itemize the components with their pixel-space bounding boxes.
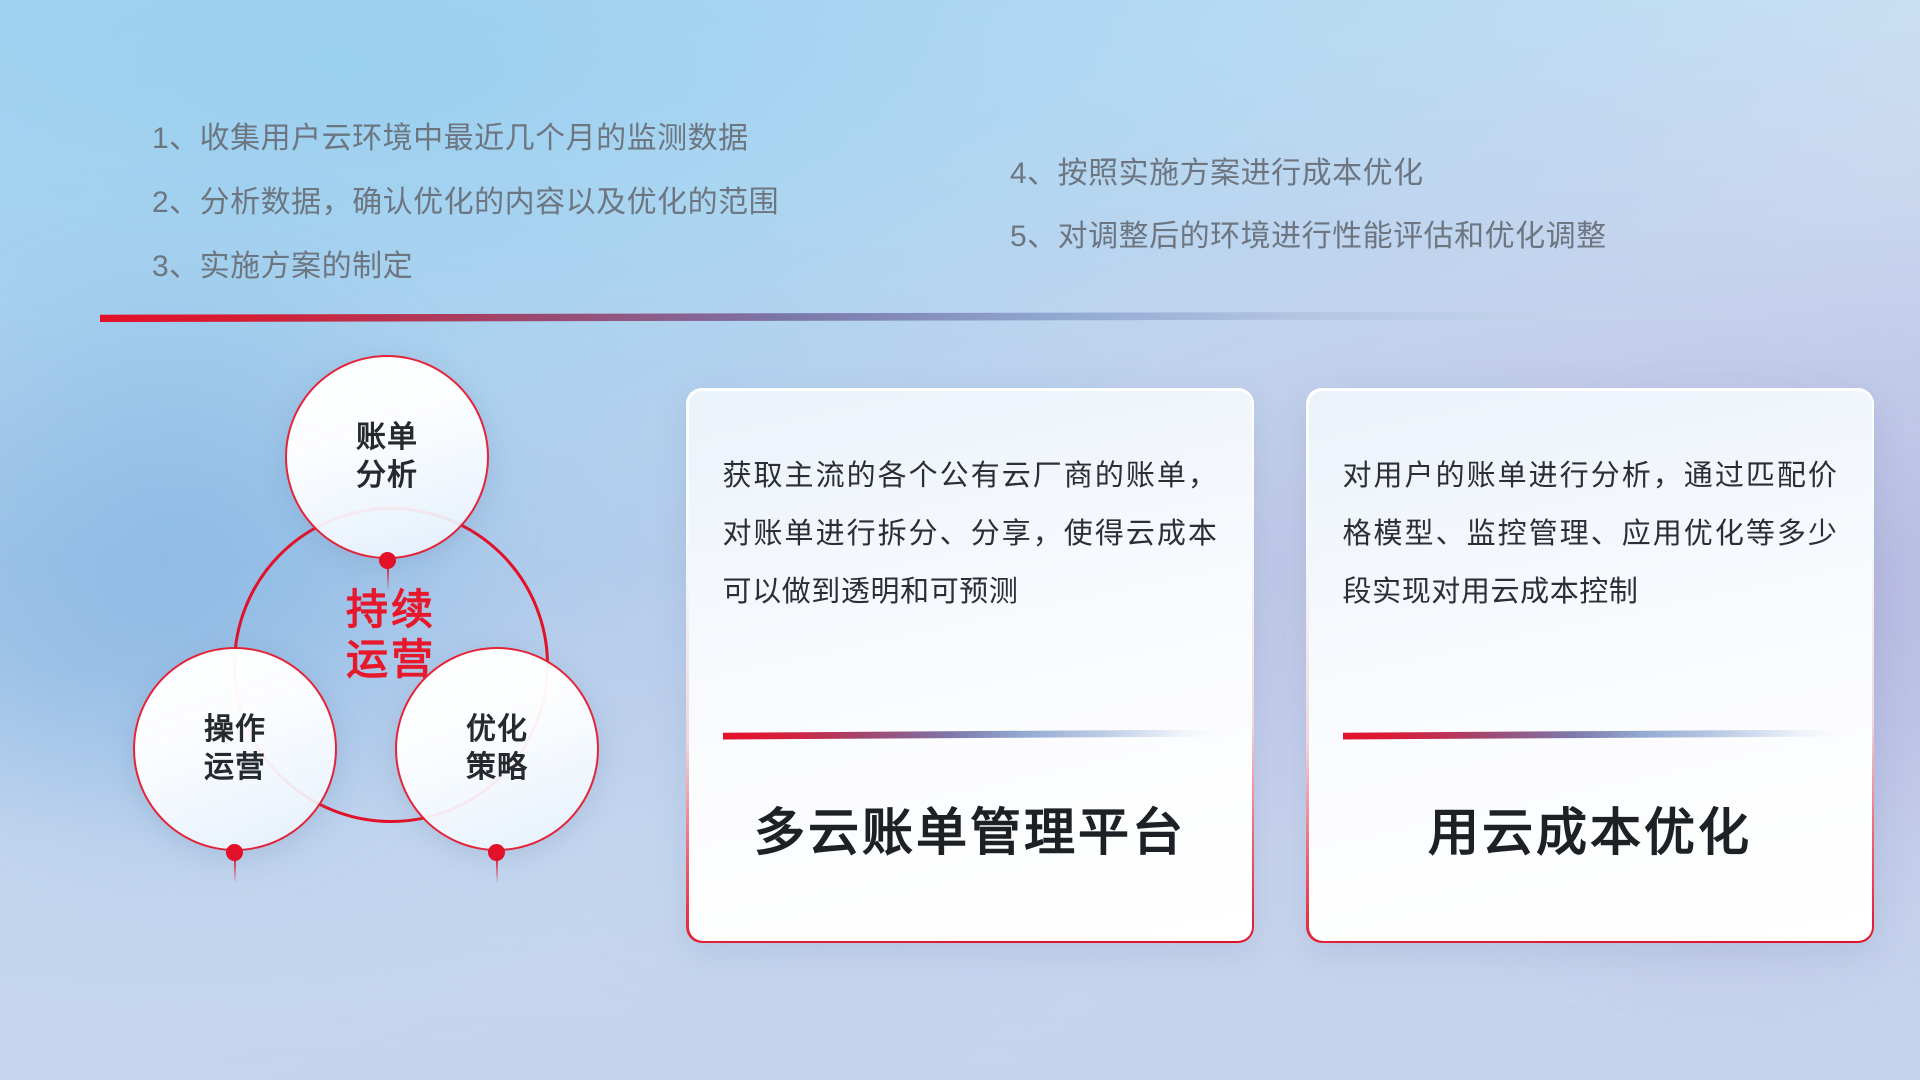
diagram-bubble-operations[interactable]: 操作 运营: [133, 647, 337, 851]
diagram-marker-dot-top: [379, 552, 396, 569]
step-item-5: 5、对调整后的环境进行性能评估和优化调整: [1010, 222, 1607, 252]
section-divider: [100, 311, 1820, 323]
bubble-label-line1: 操作: [204, 715, 266, 745]
feature-card-body: 获取主流的各个公有云厂商的账单，对账单进行拆分、分享，使得云成本可以做到透明和可…: [723, 447, 1218, 621]
feature-card-inner: 获取主流的各个公有云厂商的账单，对账单进行拆分、分享，使得云成本可以做到透明和可…: [689, 391, 1252, 941]
feature-card-inner: 对用户的账单进行分析，通过匹配价格模型、监控管理、应用优化等多少段实现对用云成本…: [1309, 391, 1872, 941]
step-item-2: 2、分析数据，确认优化的内容以及优化的范围: [152, 188, 779, 218]
feature-card-rule: [723, 730, 1221, 740]
diagram-bubble-billing-analysis[interactable]: 账单 分析: [285, 355, 489, 559]
step-item-1: 1、收集用户云环境中最近几个月的监测数据: [152, 124, 749, 154]
diagram-marker-dot-right: [488, 844, 505, 861]
bubble-label-line1: 优化: [466, 715, 528, 745]
step-item-4: 4、按照实施方案进行成本优化: [1010, 159, 1424, 189]
diagram-marker-dot-left: [226, 844, 243, 861]
diagram-center-label-line1: 持续: [293, 585, 489, 635]
cycle-diagram: 持续 运营 账单 分析 操作 运营 优化 策略: [95, 355, 655, 945]
bubble-label-line1: 账单: [356, 423, 418, 453]
feature-card-title: 用云成本优化: [1309, 791, 1872, 865]
diagram-bubble-optimization-strategy[interactable]: 优化 策略: [395, 647, 599, 851]
feature-card-title: 多云账单管理平台: [689, 791, 1252, 865]
feature-card-rule: [1343, 730, 1841, 740]
slide-canvas: 1、收集用户云环境中最近几个月的监测数据 2、分析数据，确认优化的内容以及优化的…: [0, 0, 1920, 1080]
bubble-label-line2: 运营: [204, 753, 266, 783]
feature-card-cloud-cost-optimization[interactable]: 对用户的账单进行分析，通过匹配价格模型、监控管理、应用优化等多少段实现对用云成本…: [1306, 388, 1874, 943]
bubble-label-line2: 分析: [356, 461, 418, 491]
steps-section: 1、收集用户云环境中最近几个月的监测数据 2、分析数据，确认优化的内容以及优化的…: [0, 0, 1920, 300]
section-divider-bar: [100, 311, 1820, 322]
feature-card-multicloud-billing[interactable]: 获取主流的各个公有云厂商的账单，对账单进行拆分、分享，使得云成本可以做到透明和可…: [686, 388, 1254, 943]
step-item-3: 3、实施方案的制定: [152, 252, 413, 282]
feature-card-body: 对用户的账单进行分析，通过匹配价格模型、监控管理、应用优化等多少段实现对用云成本…: [1343, 447, 1838, 621]
bubble-label-line2: 策略: [466, 753, 528, 783]
